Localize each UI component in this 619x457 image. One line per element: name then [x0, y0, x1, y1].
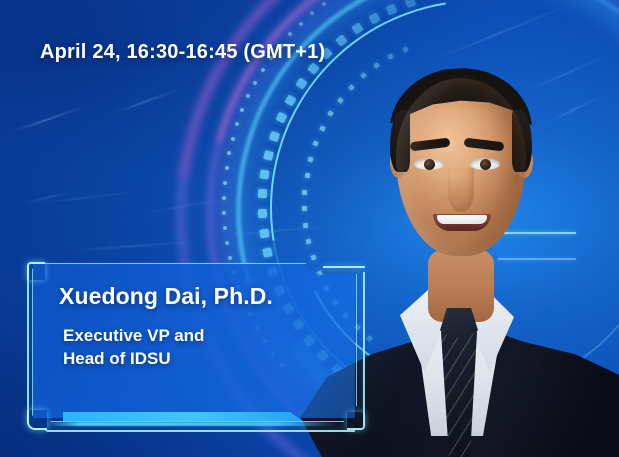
speaker-role-line-1: Executive VP and	[63, 325, 347, 347]
speaker-role: Executive VP and Head of IDSU	[59, 325, 347, 370]
plate-notch	[323, 266, 365, 268]
speaker-role-line-2: Head of IDSU	[63, 348, 347, 370]
plate-accent-bar	[63, 412, 321, 421]
plate-text-block: Xuedong Dai, Ph.D. Executive VP and Head…	[59, 284, 347, 370]
session-schedule-text: April 24, 16:30-16:45 (GMT+1)	[40, 41, 325, 64]
plate-corner-bottom-left	[27, 410, 47, 430]
speaker-name-plate: Xuedong Dai, Ph.D. Executive VP and Head…	[27, 258, 365, 432]
plate-corner-bottom-right	[347, 412, 365, 430]
speaker-name: Xuedong Dai, Ph.D.	[59, 284, 347, 309]
speaker-announcement-card: April 24, 16:30-16:45 (GMT+1) Xuedong Da…	[0, 0, 619, 457]
plate-corner-top-left	[27, 262, 45, 280]
